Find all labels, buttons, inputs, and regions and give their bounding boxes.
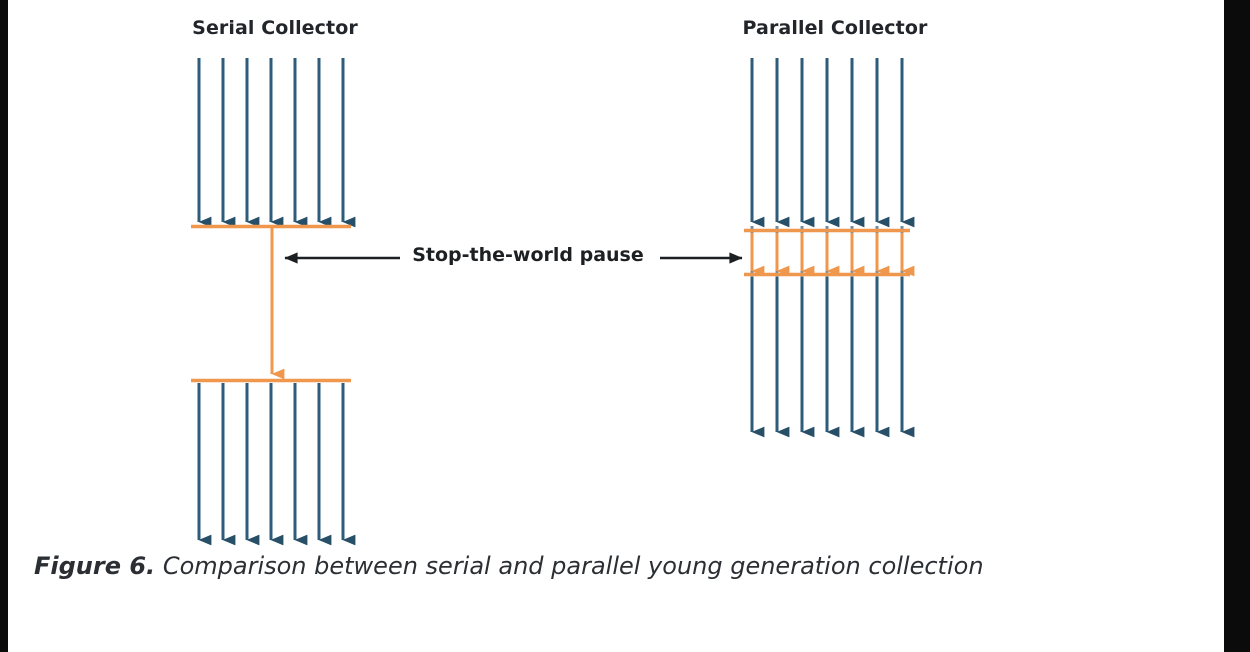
stop-the-world-pause-label: Stop-the-world pause xyxy=(408,244,648,266)
parallel-gc-threads xyxy=(752,233,902,271)
parallel-collector-title: Parallel Collector xyxy=(665,17,1005,39)
figure-caption-text: Comparison between serial and parallel y… xyxy=(163,552,984,580)
serial-collector-title: Serial Collector xyxy=(110,17,440,39)
serial-app-threads-bottom xyxy=(199,383,343,540)
parallel-app-threads-top xyxy=(752,58,902,222)
serial-app-threads-top xyxy=(199,58,343,222)
figure-caption: Figure 6. Comparison between serial and … xyxy=(34,552,1164,580)
parallel-collector-panel xyxy=(744,58,910,432)
serial-collector-panel xyxy=(191,58,351,540)
figure-page: Serial Collector Parallel Collector Stop… xyxy=(0,0,1250,652)
figure-caption-number: Figure 6. xyxy=(34,552,155,580)
parallel-app-threads-bottom xyxy=(752,277,902,432)
